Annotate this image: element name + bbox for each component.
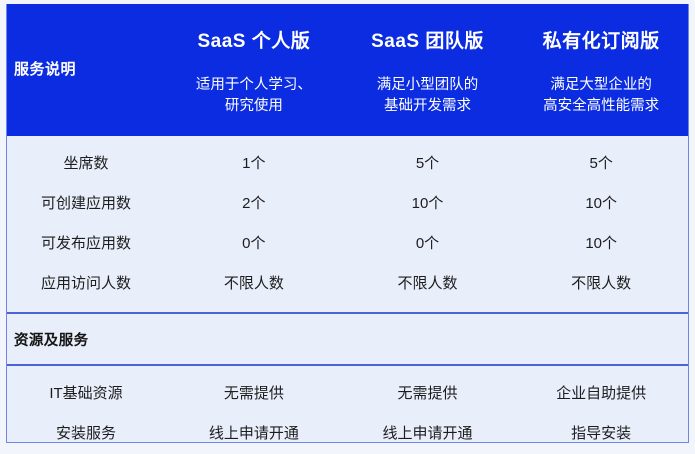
pricing-comparison-table: 服务说明 SaaS 个人版 适用于个人学习、 研究使用 SaaS 团队版 满足小…	[6, 4, 689, 443]
feature-group-capacity: 坐席数 1个 5个 5个 可创建应用数 2个 10个 10个 可发布应用数 0个…	[7, 136, 688, 312]
header-feature-column: 服务说明	[7, 4, 167, 136]
header-plan-column-2: SaaS 团队版 满足小型团队的 基础开发需求	[341, 4, 515, 136]
row-value-plan-1: 0个	[167, 235, 341, 253]
row-label: 应用访问人数	[7, 275, 167, 293]
table-row: IT基础资源 无需提供 无需提供 企业自助提供	[7, 374, 688, 414]
row-value-plan-1: 2个	[167, 195, 341, 213]
row-value-plan-2: 0个	[341, 235, 515, 253]
table-row: 坐席数 1个 5个 5个	[7, 144, 688, 184]
row-value-plan-3: 10个	[514, 235, 688, 253]
group-title-row: 资源及服务	[7, 314, 688, 364]
row-label: 可发布应用数	[7, 235, 167, 253]
row-value-plan-2: 5个	[341, 155, 515, 173]
table-row: 可创建应用数 2个 10个 10个	[7, 184, 688, 224]
plan-title-3: 私有化订阅版	[543, 31, 660, 54]
row-value-plan-3: 10个	[514, 195, 688, 213]
feature-group-resources-rows: IT基础资源 无需提供 无需提供 企业自助提供 安装服务 线上申请开通 线上申请…	[7, 364, 688, 454]
group-bottom-spacer	[7, 304, 688, 312]
row-label: 可创建应用数	[7, 195, 167, 213]
row-value-plan-2: 无需提供	[341, 385, 515, 403]
table-row: 应用访问人数 不限人数 不限人数 不限人数	[7, 264, 688, 304]
table-header: 服务说明 SaaS 个人版 适用于个人学习、 研究使用 SaaS 团队版 满足小…	[7, 4, 688, 136]
plan-title-2: SaaS 团队版	[371, 31, 484, 54]
table-row: 安装服务 线上申请开通 线上申请开通 指导安装	[7, 414, 688, 454]
row-value-plan-1: 不限人数	[167, 275, 341, 293]
plan-title-1: SaaS 个人版	[197, 31, 310, 54]
group-top-spacer	[7, 136, 688, 144]
row-label: 安装服务	[7, 425, 167, 443]
header-plan-column-3: 私有化订阅版 满足大型企业的 高安全高性能需求	[514, 4, 688, 136]
header-feature-title: 服务说明	[14, 61, 76, 79]
row-value-plan-1: 线上申请开通	[167, 425, 341, 443]
row-value-plan-2: 10个	[341, 195, 515, 213]
row-value-plan-2: 不限人数	[341, 275, 515, 293]
table-row: 可发布应用数 0个 0个 10个	[7, 224, 688, 264]
feature-group-resources: 资源及服务	[7, 312, 688, 364]
row-label: IT基础资源	[7, 385, 167, 403]
row-value-plan-3: 企业自助提供	[514, 385, 688, 403]
group-top-spacer	[7, 366, 688, 374]
row-value-plan-3: 不限人数	[514, 275, 688, 293]
row-value-plan-3: 指导安装	[514, 425, 688, 443]
plan-description-1: 适用于个人学习、 研究使用	[196, 75, 312, 117]
row-value-plan-2: 线上申请开通	[341, 425, 515, 443]
row-label: 坐席数	[7, 155, 167, 173]
row-value-plan-1: 1个	[167, 155, 341, 173]
row-value-plan-3: 5个	[514, 155, 688, 173]
row-value-plan-1: 无需提供	[167, 385, 341, 403]
group-title-resources: 资源及服务	[14, 329, 89, 350]
plan-description-2: 满足小型团队的 基础开发需求	[377, 75, 479, 117]
header-plan-column-1: SaaS 个人版 适用于个人学习、 研究使用	[167, 4, 341, 136]
plan-description-3: 满足大型企业的 高安全高性能需求	[543, 75, 659, 117]
